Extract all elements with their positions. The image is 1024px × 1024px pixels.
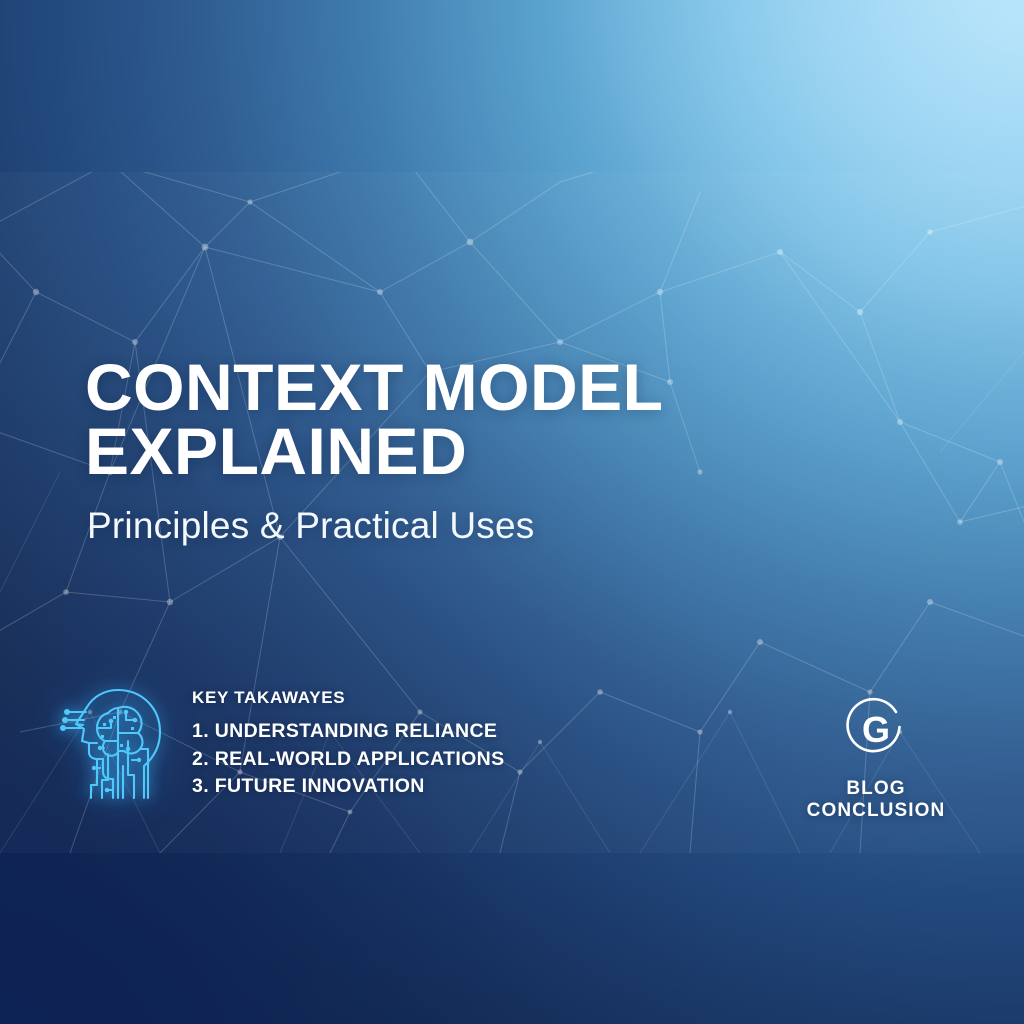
title-line-2: EXPLAINED — [85, 419, 865, 483]
brand-lockup: G BLOG CONCLUSION — [776, 694, 976, 822]
slide-canvas: CONTEXT MODEL EXPLAINED Principles & Pra… — [0, 0, 1024, 1024]
brand-name: BLOG CONCLUSION — [776, 778, 976, 822]
takeaways-text: KEY TAKAWAYES 1. UNDERSTANDING RELIANCE … — [192, 678, 504, 801]
page-title: CONTEXT MODEL EXPLAINED — [85, 355, 865, 483]
takeaway-item-3: 3. FUTURE INNOVATION — [192, 773, 504, 801]
page-subtitle: Principles & Practical Uses — [87, 505, 865, 547]
key-takeaways-block: KEY TAKAWAYES 1. UNDERSTANDING RELIANCE … — [56, 678, 504, 802]
logo-letter: G — [862, 709, 890, 750]
takeaway-item-2: 2. REAL-WORLD APPLICATIONS — [192, 746, 504, 774]
takeaway-item-1: 1. UNDERSTANDING RELIANCE — [192, 718, 504, 746]
title-line-1: CONTEXT MODEL — [85, 350, 664, 424]
ai-brain-head-icon — [56, 680, 174, 802]
circle-g-logo: G — [840, 694, 912, 766]
headline-block: CONTEXT MODEL EXPLAINED Principles & Pra… — [85, 355, 865, 547]
takeaways-heading: KEY TAKAWAYES — [192, 688, 504, 708]
